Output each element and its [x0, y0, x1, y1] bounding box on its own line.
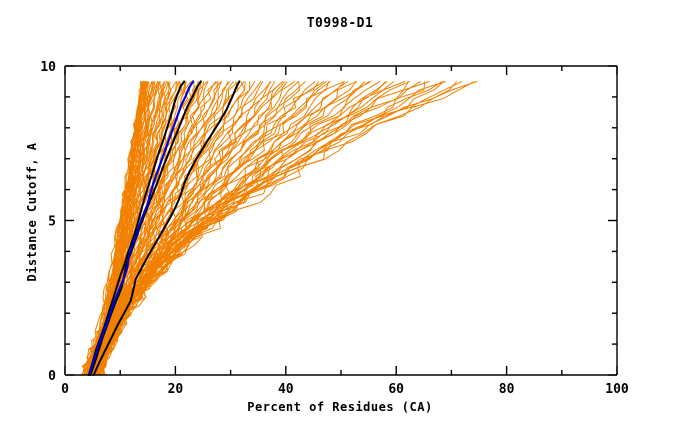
y-tick-label: 10 [40, 60, 56, 75]
x-tick-label: 40 [278, 382, 294, 397]
x-tick-label: 80 [499, 382, 515, 397]
chart-figure: T0998-D1 Distance Cutoff, A Percent of R… [0, 0, 680, 440]
y-axis-label: Distance Cutoff, A [25, 102, 39, 322]
x-tick-label: 20 [168, 382, 184, 397]
y-tick-label: 5 [48, 215, 56, 230]
x-axis-label: Percent of Residues (CA) [0, 400, 680, 414]
x-tick-label: 60 [388, 382, 404, 397]
ensemble-curves-layer [81, 81, 477, 375]
x-tick-label: 100 [605, 382, 629, 397]
plot-canvas: 0204060801000510 [0, 0, 680, 440]
y-tick-label: 0 [48, 369, 56, 384]
page-title: T0998-D1 [0, 16, 680, 31]
x-tick-label: 0 [61, 382, 69, 397]
